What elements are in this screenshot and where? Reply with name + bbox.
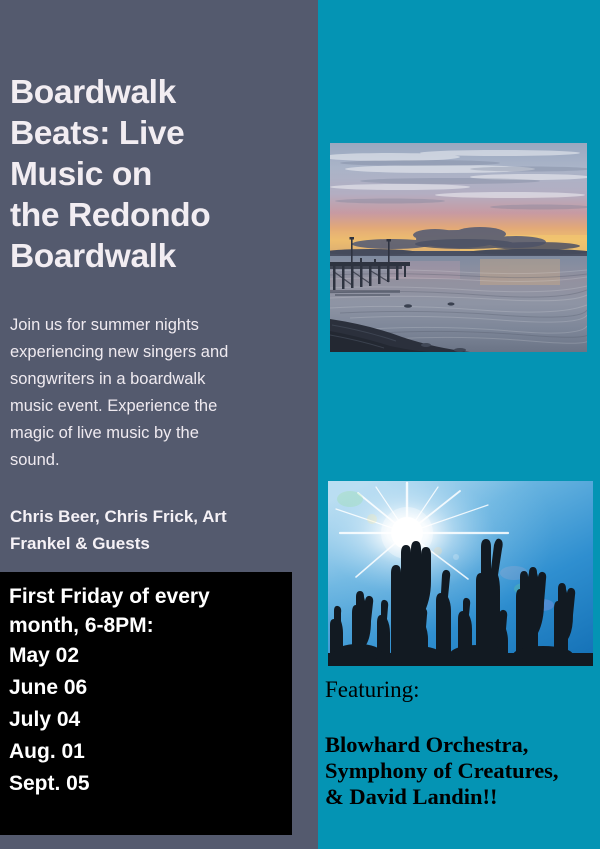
list-item: July 04 bbox=[9, 704, 90, 736]
dates-box: First Friday of every month, 6-8PM: May … bbox=[0, 572, 292, 835]
list-item: May 02 bbox=[9, 640, 90, 672]
sunset-pier-illustration bbox=[330, 143, 587, 352]
list-item: June 06 bbox=[9, 672, 90, 704]
list-item: Sept. 05 bbox=[9, 768, 90, 800]
dates-heading: First Friday of every month, 6-8PM: bbox=[9, 582, 285, 640]
featured-bands: Blowhard Orchestra, Symphony of Creature… bbox=[325, 732, 600, 810]
page-title: Boardwalk Beats: Live Music on the Redon… bbox=[10, 72, 310, 277]
performers-line: Chris Beer, Chris Frick, Art Frankel & G… bbox=[10, 503, 306, 557]
raised-hands-photo bbox=[328, 481, 593, 666]
featuring-label: Featuring: bbox=[325, 676, 420, 703]
event-description: Join us for summer nights experiencing n… bbox=[10, 312, 300, 474]
sunset-pier-photo bbox=[330, 143, 587, 352]
poster: Boardwalk Beats: Live Music on the Redon… bbox=[0, 0, 600, 849]
right-panel bbox=[318, 0, 600, 849]
raised-hands-illustration bbox=[328, 481, 593, 666]
dates-list: May 02 June 06 July 04 Aug. 01 Sept. 05 bbox=[9, 640, 90, 800]
list-item: Aug. 01 bbox=[9, 736, 90, 768]
